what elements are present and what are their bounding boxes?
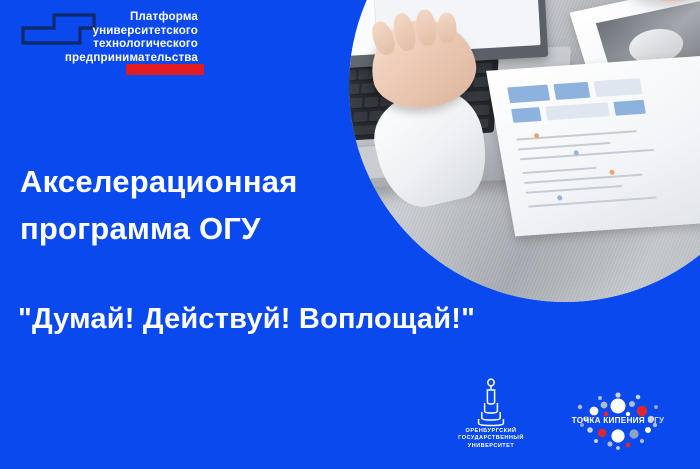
platform-logo: Платформа университетского технологическ… — [14, 6, 294, 76]
tochka-kipeniya-label: ТОЧКА КИПЕНИЯ ОГУ — [556, 416, 680, 425]
osu-logo: ОРЕНБУРГСКИЙ ГОСУДАРСТВЕННЫЙ УНИВЕРСИТЕТ — [452, 378, 530, 460]
photo-content — [349, 0, 700, 302]
slogan-text: "Думай! Действуй! Воплощай!" — [18, 303, 578, 336]
tk-label-main: ТОЧКА КИПЕНИЯ — [572, 416, 645, 425]
headline-line-2: программа ОГУ — [20, 205, 350, 252]
platform-logo-line-2: университетского — [14, 24, 198, 38]
tochka-kipeniya-logo: ТОЧКА КИПЕНИЯ ОГУ — [556, 392, 680, 450]
tk-label-sub: ОГУ — [647, 416, 664, 425]
page-title: Акселерационная программа ОГУ — [20, 158, 350, 252]
report-sheet — [486, 56, 700, 237]
platform-logo-line-4: предпринимательства — [14, 51, 198, 65]
photo-circle — [349, 0, 700, 302]
poster-canvas: Платформа университетского технологическ… — [0, 0, 700, 469]
osu-caption-line-2: ГОСУДАРСТВЕННЫЙ — [452, 435, 530, 442]
platform-logo-accent-bar — [126, 64, 204, 75]
platform-logo-text: Платформа университетского технологическ… — [14, 10, 294, 64]
osu-caption-line-3: УНИВЕРСИТЕТ — [452, 443, 530, 450]
platform-logo-line-1: Платформа — [14, 10, 198, 24]
headline-line-1: Акселерационная — [20, 158, 350, 205]
osu-logo-caption: ОРЕНБУРГСКИЙ ГОСУДАРСТВЕННЫЙ УНИВЕРСИТЕТ — [452, 428, 530, 450]
platform-logo-line-3: технологического — [14, 37, 198, 51]
osu-tower-icon — [471, 378, 511, 428]
